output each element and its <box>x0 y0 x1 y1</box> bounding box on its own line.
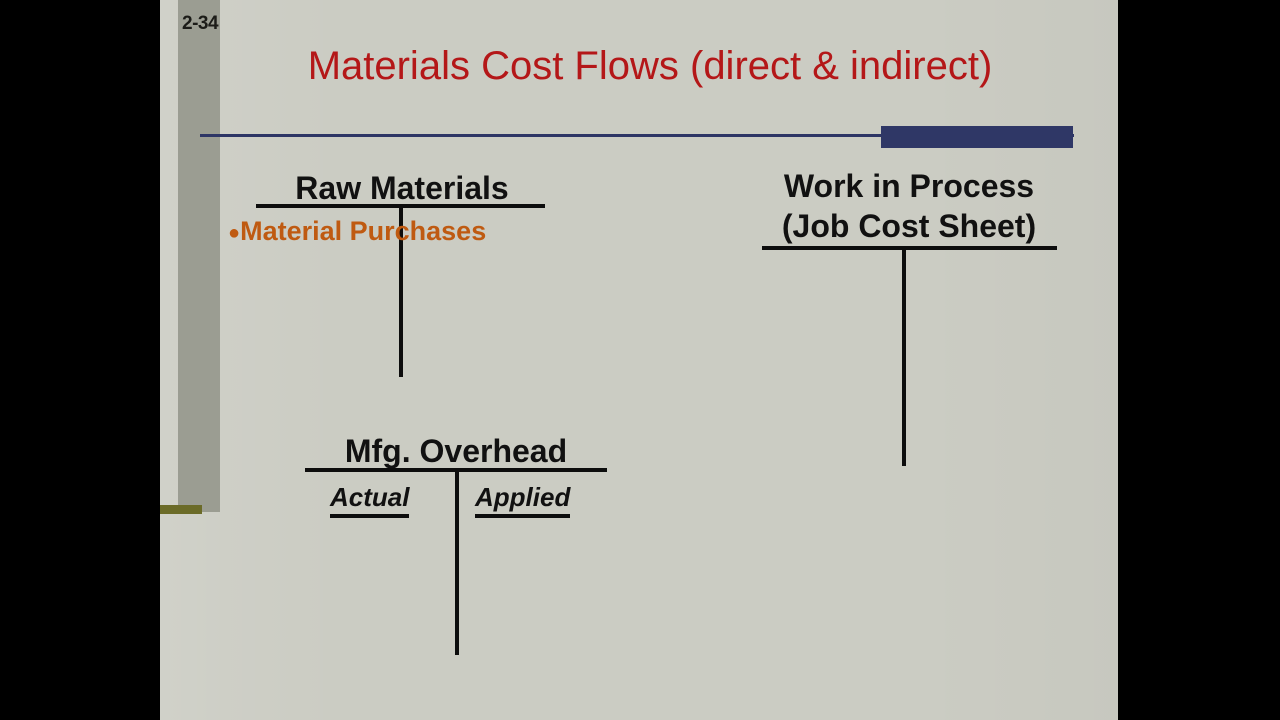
slide-canvas <box>160 0 1118 720</box>
t-account-work-in-process-heading: Work in Process (Job Cost Sheet) <box>760 166 1058 246</box>
t-account-work-in-process-stem <box>902 249 906 466</box>
slide-number: 2-34 <box>182 13 218 35</box>
t-account-raw-materials-heading: Raw Materials <box>258 170 546 207</box>
slide-sheen-overlay <box>160 0 1118 720</box>
letterbox-bar-left <box>0 0 160 720</box>
presentation-screen: 2-34 Materials Cost Flows (direct & indi… <box>0 0 1280 720</box>
t-account-work-in-process-heading-line2: (Job Cost Sheet) <box>760 206 1058 246</box>
page-title: Materials Cost Flows (direct & indirect) <box>200 44 1100 89</box>
slide-left-accent-foot <box>160 505 202 514</box>
t-account-mfg-overhead-heading: Mfg. Overhead <box>306 433 606 470</box>
t-account-raw-materials-debit-entry: ●Material Purchases <box>228 215 390 247</box>
t-account-mfg-overhead-stem <box>455 471 459 655</box>
t-account-work-in-process-heading-line1: Work in Process <box>760 166 1058 206</box>
t-account-work-in-process-rule <box>762 246 1057 250</box>
letterbox-bar-right <box>1118 0 1280 720</box>
t-account-raw-materials-debit-entry-label: Material Purchases <box>240 216 486 246</box>
t-account-mfg-overhead-debit-label: Actual <box>330 482 409 518</box>
bullet-icon: ● <box>228 222 240 244</box>
title-accent-block <box>881 126 1073 148</box>
t-account-mfg-overhead-credit-label: Applied <box>475 482 570 518</box>
